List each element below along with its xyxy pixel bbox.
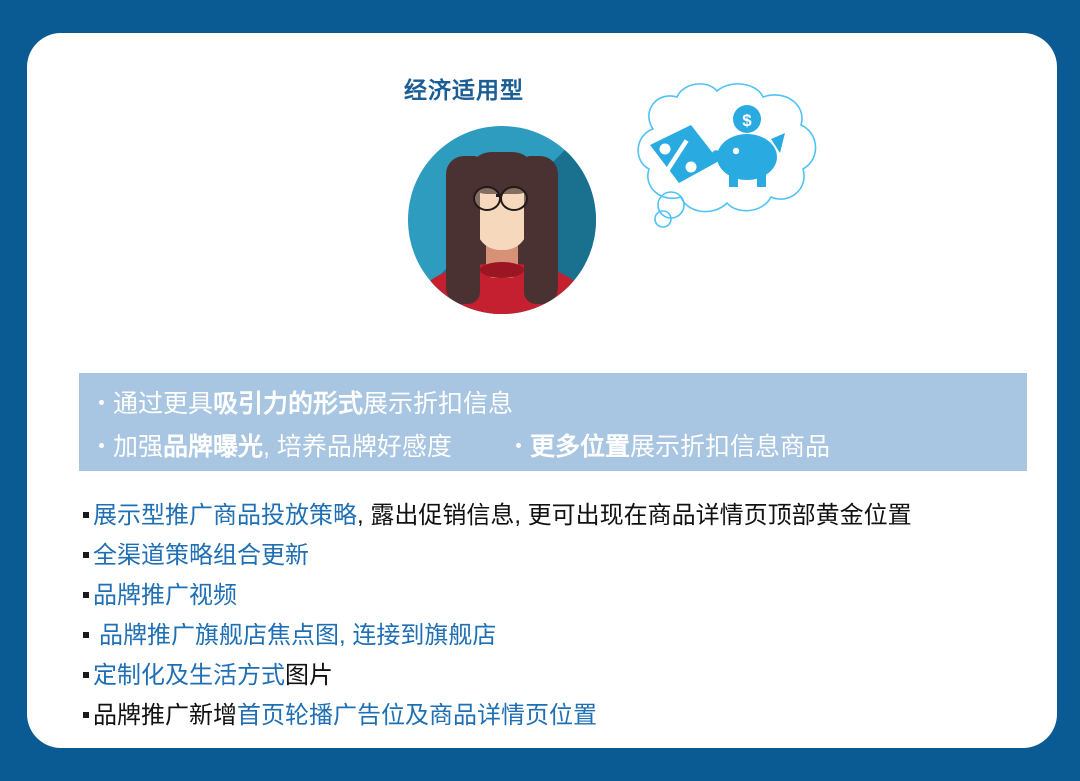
bullet-new-homepage-carousel: 品牌推广新增首页轮播广告位及商品详情页位置 xyxy=(83,695,1033,735)
dollar-coin-icon: $ xyxy=(733,105,761,133)
bullet-display-ads-strategy: 展示型推广商品投放策略, 露出促销信息, 更可出现在商品详情页顶部黄金位置 xyxy=(83,495,1033,535)
square-bullet-icon xyxy=(83,592,89,598)
bullet-3-segment-1: 品牌推广视频 xyxy=(93,575,237,610)
highlight-l1-s3: 展示折扣信息 xyxy=(363,390,513,418)
highlight-l2a-s1: 加强 xyxy=(113,433,163,461)
square-bullet-icon xyxy=(83,512,89,518)
highlight-l1-s2: 吸引力的形式 xyxy=(213,390,363,418)
bullet-4-segment-1: 品牌推广旗舰店焦点图, 连接到旗舰店 xyxy=(99,615,496,650)
bullet-dot-icon xyxy=(99,400,104,405)
square-bullet-icon xyxy=(83,552,89,558)
collar xyxy=(480,262,524,278)
highlight-line-2: 加强品牌曝光, 培养品牌好感度更多位置展示折扣信息商品 xyxy=(97,427,830,463)
bullet-dot-icon xyxy=(516,443,521,448)
bullet-custom-lifestyle-images: 定制化及生活方式图片 xyxy=(83,655,1033,695)
highlight-line-1: 通过更具吸引力的形式展示折扣信息 xyxy=(97,384,513,420)
bullet-flagship-store-focus-image: 品牌推广旗舰店焦点图, 连接到旗舰店 xyxy=(83,615,1033,655)
page-title-text: 经济适用型 xyxy=(404,77,524,103)
highlight-l2b-s2: 展示折扣信息商品 xyxy=(630,433,830,461)
discount-percent-tag-icon xyxy=(650,125,719,183)
bullet-6-segment-2: 首页轮播广告位及商品详情页位置 xyxy=(237,695,597,730)
highlight-box: 通过更具吸引力的形式展示折扣信息 加强品牌曝光, 培养品牌好感度更多位置展示折扣… xyxy=(79,373,1027,471)
slide-canvas: 经济适用型 xyxy=(0,0,1080,781)
bullet-brand-video: 品牌推广视频 xyxy=(83,575,1033,615)
page-title: 经济适用型 xyxy=(27,71,1057,105)
eyeglasses-left-lens-icon xyxy=(473,186,501,211)
square-bullet-icon xyxy=(83,712,89,718)
bullet-1-segment-2: , 露出促销信息, 更可出现在商品详情页顶部黄金位置 xyxy=(357,495,912,530)
highlight-l2a-s2: 品牌曝光 xyxy=(163,433,263,461)
svg-text:$: $ xyxy=(742,111,752,130)
bullet-1-segment-1: 展示型推广商品投放策略 xyxy=(93,495,357,530)
eyeglasses-bridge-icon xyxy=(496,194,502,197)
eyeglasses-right-lens-icon xyxy=(500,186,528,211)
bullet-omnichannel-strategy: 全渠道策略组合更新 xyxy=(83,535,1033,575)
highlight-l2a-s3: , 培养品牌好感度 xyxy=(263,433,452,461)
content-card: 经济适用型 xyxy=(27,33,1057,748)
woman-with-glasses-avatar xyxy=(408,126,596,314)
thought-bubble: $ xyxy=(595,77,835,237)
highlight-l1-s1: 通过更具 xyxy=(113,390,213,418)
highlight-l2b-s1: 更多位置 xyxy=(530,433,630,461)
bullet-dot-icon xyxy=(99,443,104,448)
feature-bullet-list: 展示型推广商品投放策略, 露出促销信息, 更可出现在商品详情页顶部黄金位置 全渠… xyxy=(83,495,1033,735)
bullet-5-segment-1: 定制化及生活方式 xyxy=(93,655,285,690)
bullet-2-segment-1: 全渠道策略组合更新 xyxy=(93,535,309,570)
bullet-5-segment-2: 图片 xyxy=(285,655,333,690)
square-bullet-icon xyxy=(83,672,89,678)
highlight-line-2-second-item: 更多位置展示折扣信息商品 xyxy=(514,427,830,463)
piggy-bank-icon xyxy=(712,133,785,187)
bullet-6-segment-1: 品牌推广新增 xyxy=(93,695,237,730)
square-bullet-icon xyxy=(83,632,89,638)
